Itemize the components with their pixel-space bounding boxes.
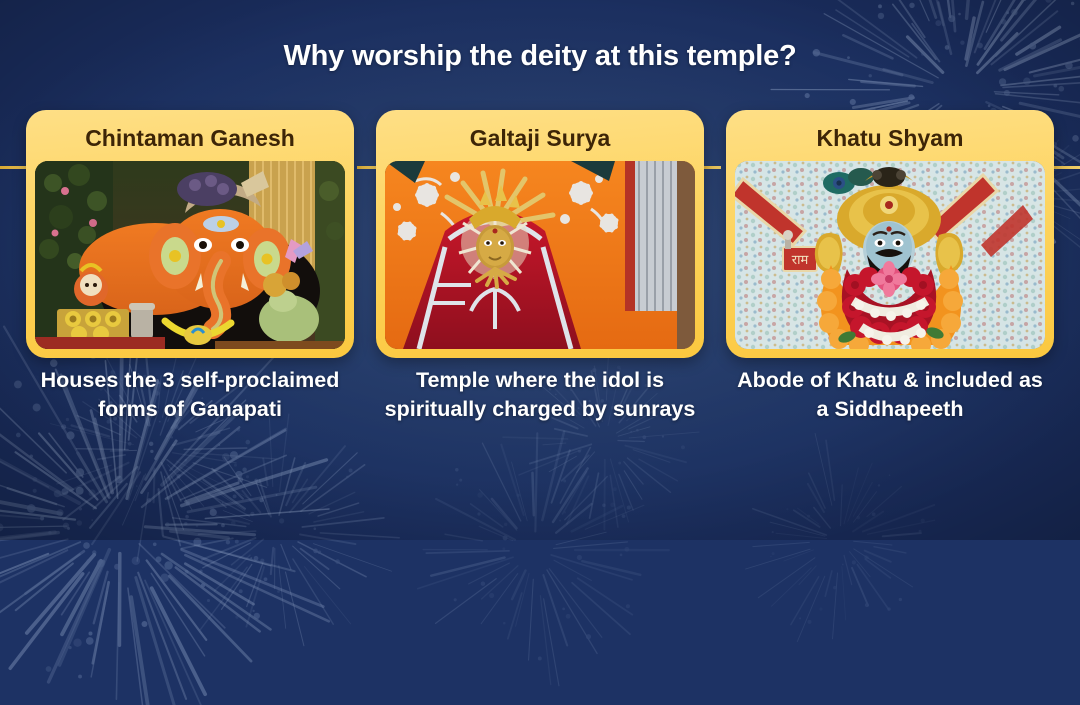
card-caption: Houses the 3 self-proclaimed forms of Ga…	[26, 366, 354, 424]
card-title: Galtaji Surya	[470, 116, 611, 161]
khatu-shyam-idol-photo: राम	[735, 161, 1045, 349]
card-caption: Temple where the idol is spiritually cha…	[376, 366, 704, 424]
card-title: Khatu Shyam	[817, 116, 964, 161]
card-title: Chintaman Ganesh	[85, 116, 295, 161]
chintaman-ganesh-idol-photo	[35, 161, 345, 349]
card-caption: Abode of Khatu & included as a Siddhapee…	[726, 366, 1054, 424]
svg-text:राम: राम	[792, 253, 809, 268]
cards-row: Chintaman Ganesh	[0, 110, 1080, 360]
galtaji-surya-idol-photo	[385, 161, 695, 349]
page-title: Why worship the deity at this temple?	[0, 40, 1080, 73]
captions-row: Houses the 3 self-proclaimed forms of Ga…	[0, 366, 1080, 424]
card-galtaji-surya[interactable]: Galtaji Surya	[376, 110, 704, 358]
card-chintaman-ganesh[interactable]: Chintaman Ganesh	[26, 110, 354, 358]
card-khatu-shyam[interactable]: Khatu Shyam	[726, 110, 1054, 358]
